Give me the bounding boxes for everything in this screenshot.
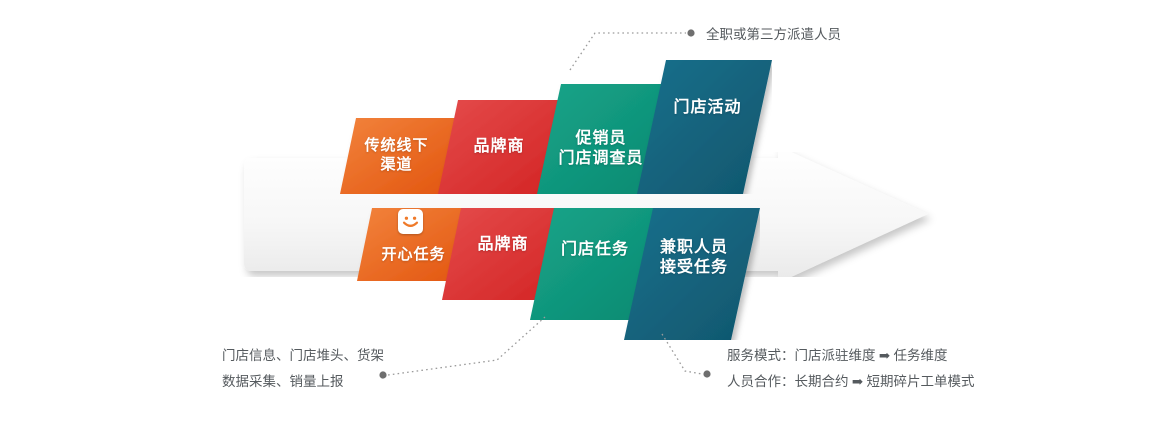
leader-dot-top-right xyxy=(687,29,694,36)
leader-line-bottom-left xyxy=(388,317,545,375)
smiley-icon xyxy=(398,209,423,234)
annotation-text-line1: 门店信息、门店堆头、货架 xyxy=(222,343,384,369)
chevron-label: 门店活动 xyxy=(673,98,741,118)
chevron-label: 开心任务 xyxy=(381,246,445,265)
leader-dot-bottom-right xyxy=(703,370,710,377)
annotation-text: 全职或第三方派遣人员 xyxy=(706,27,841,42)
annotation-bottom-left: 门店信息、门店堆头、货架 数据采集、销量上报 xyxy=(222,343,384,395)
annotation-text-line2: 数据采集、销量上报 xyxy=(222,369,384,395)
leader-line-bottom-right xyxy=(662,334,702,374)
chevron-parttime-accept[interactable]: 兼职人员 接受任务 xyxy=(624,208,760,340)
chevron-label: 门店任务 xyxy=(561,240,629,260)
chevron-label: 品牌商 xyxy=(477,235,528,255)
diagram-canvas: 传统线下 渠道 品牌商 xyxy=(0,0,1150,430)
chevron-store-activity[interactable]: 门店活动 xyxy=(637,60,772,194)
chevron-label: 传统线下 渠道 xyxy=(364,137,428,175)
chevron-label: 兼职人员 接受任务 xyxy=(660,238,728,278)
chevron-label: 品牌商 xyxy=(473,137,524,157)
annotation-bottom-right: 服务模式：门店派驻维度 ➡ 任务维度 人员合作：长期合约 ➡ 短期碎片工单模式 xyxy=(727,343,975,395)
annotation-text-line2: 人员合作：长期合约 ➡ 短期碎片工单模式 xyxy=(727,369,975,395)
annotation-top-right: 全职或第三方派遣人员 xyxy=(706,22,841,48)
annotation-text-line1: 服务模式：门店派驻维度 ➡ 任务维度 xyxy=(727,343,975,369)
chevron-label: 促销员 门店调查员 xyxy=(558,129,643,169)
